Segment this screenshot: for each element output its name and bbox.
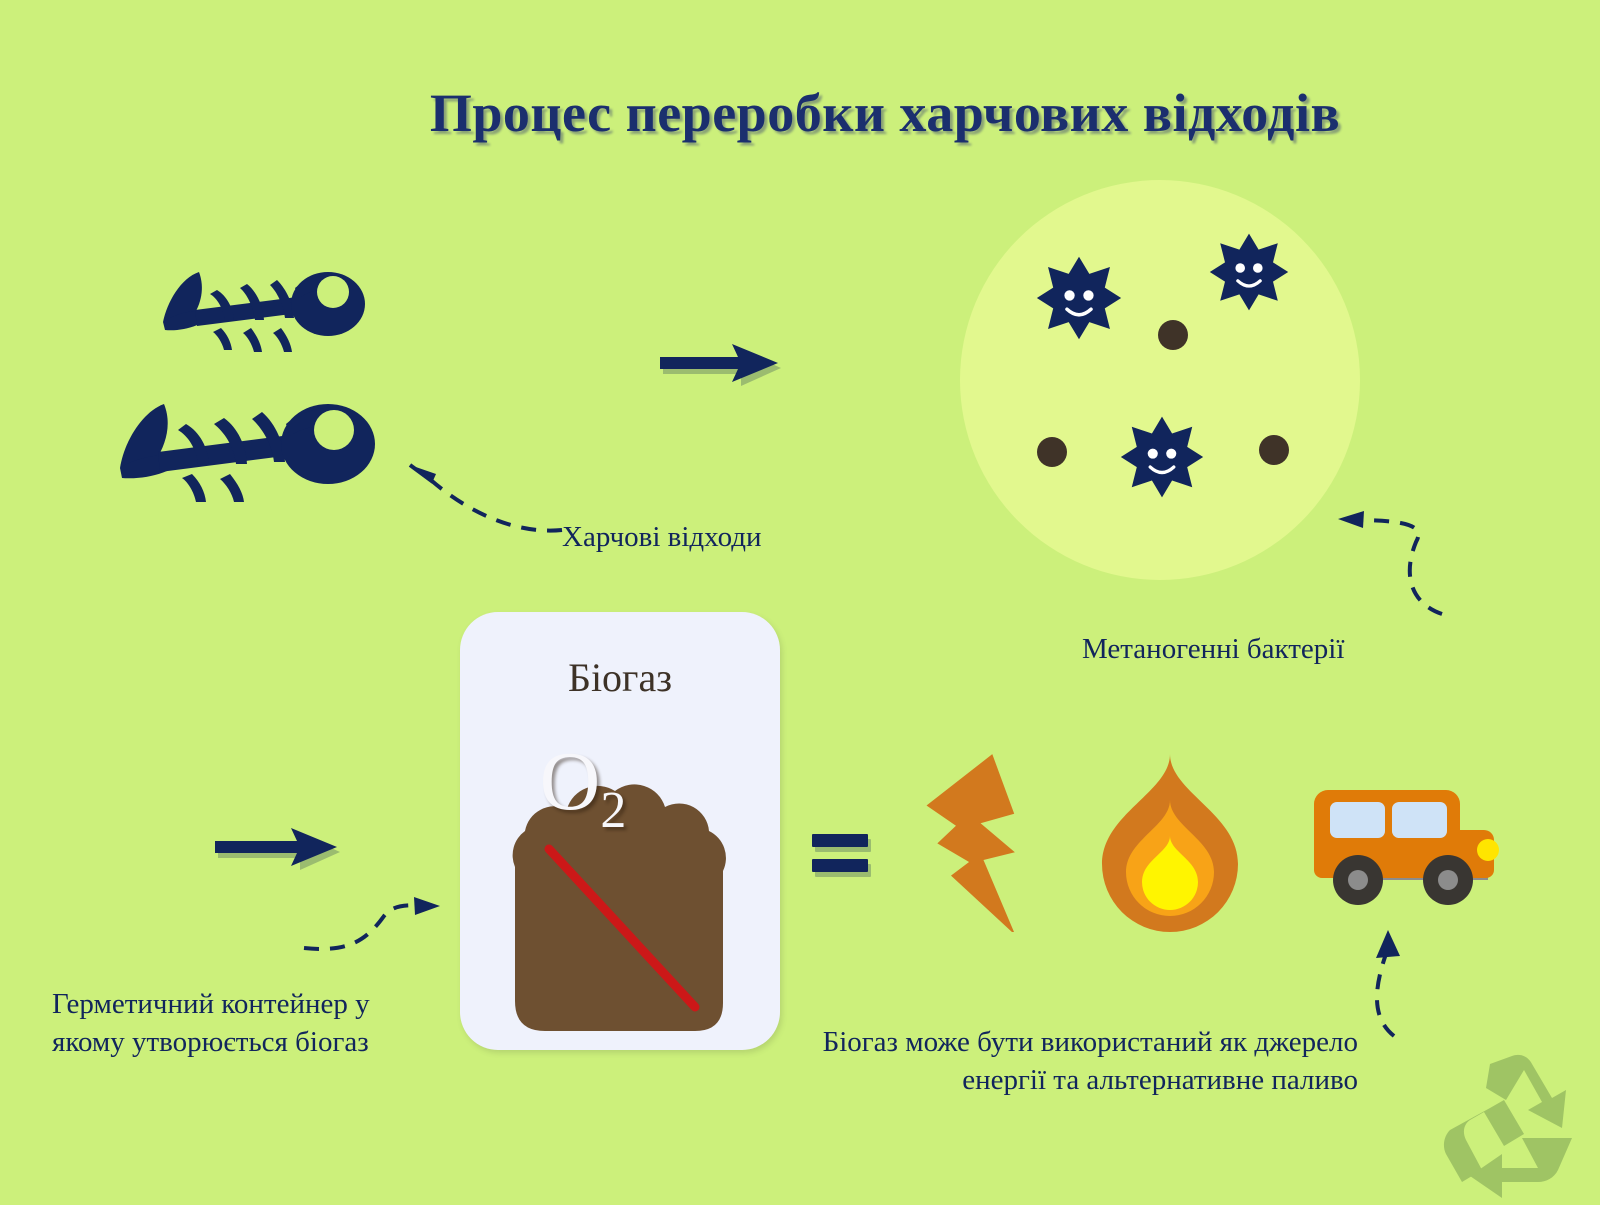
bacteria-culture-circle [960, 180, 1360, 580]
equals-icon [812, 833, 878, 888]
oxygen-subscript: 2 [600, 782, 626, 839]
sealed-container-label: Герметичний контейнер у якому утворюєтьс… [52, 986, 370, 1061]
sealed-biogas-container: Біогаз O2 [460, 612, 780, 1050]
right-arrow-icon [215, 822, 350, 885]
oxygen-formula: O2 [460, 740, 706, 837]
organic-particle-icon [1037, 437, 1067, 467]
organic-particle-icon [1259, 435, 1289, 465]
methanogenic-bacteria-label: Метаногенні бактерії [1082, 630, 1344, 669]
dashed-arrow-icon [300, 890, 445, 975]
flame-icon [1098, 752, 1243, 937]
dashed-arrow-icon [402, 452, 567, 542]
dashed-arrow-icon [1330, 506, 1455, 626]
car-icon [1300, 778, 1500, 918]
biogas-caption: Біогаз [460, 654, 780, 701]
lightning-bolt-icon [920, 752, 1050, 937]
recycle-icon [1428, 1050, 1586, 1205]
bacterium-star-icon [1036, 255, 1122, 346]
biogas-energy-label: Біогаз може бути використаний як джерело… [786, 1024, 1358, 1099]
right-arrow-icon [660, 338, 790, 401]
bacterium-star-icon [1209, 232, 1289, 317]
food-waste-label: Харчові відходи [562, 518, 762, 557]
page-title: Процес переробки харчових відходів [0, 82, 1600, 144]
oxygen-symbol: O [540, 735, 601, 828]
organic-particle-icon [1158, 320, 1188, 350]
fish-bone-icon [110, 378, 375, 503]
fish-bone-icon [155, 250, 365, 355]
infographic-canvas: Процес переробки харчових відходів [0, 0, 1600, 1200]
bacterium-star-icon [1120, 415, 1204, 504]
